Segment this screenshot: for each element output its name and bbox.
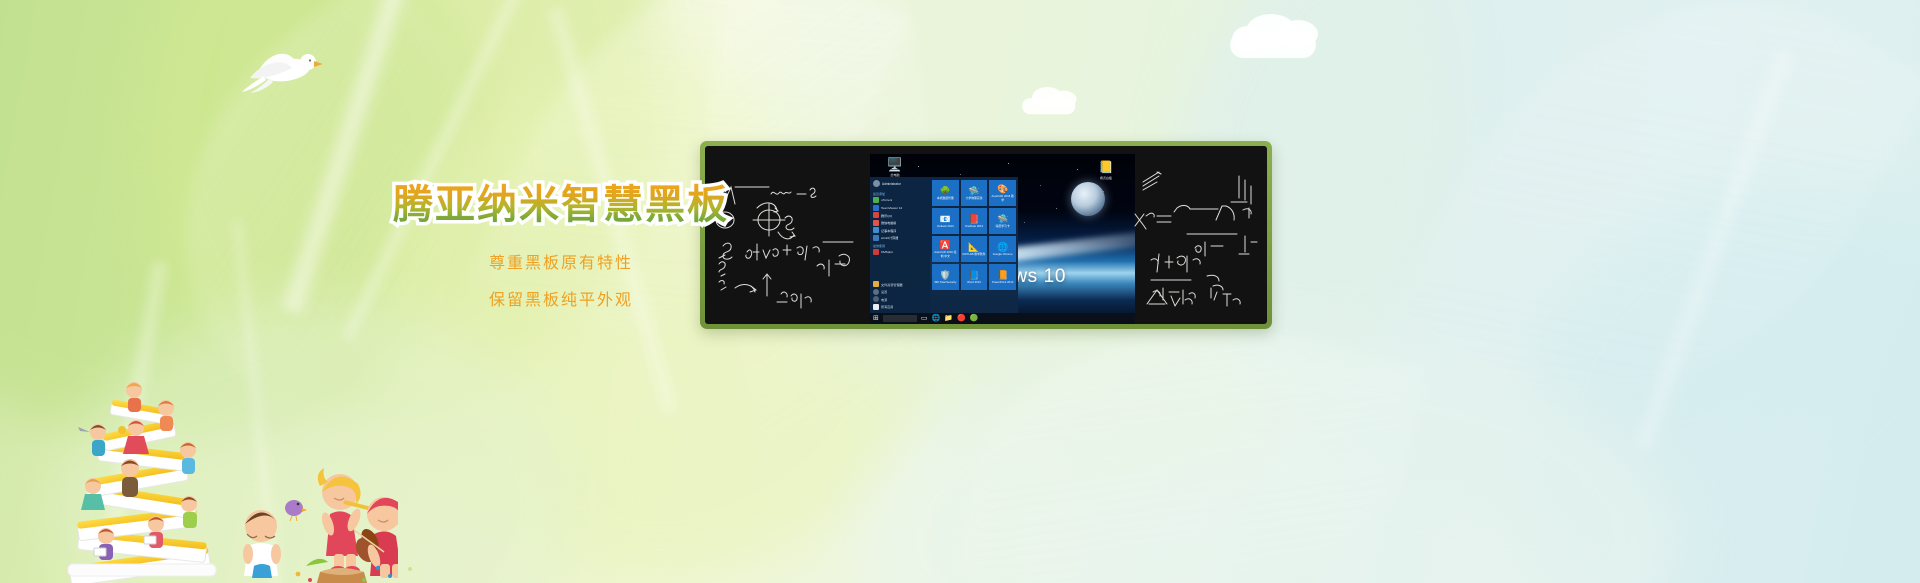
confetti-dot — [296, 572, 301, 577]
tile-label: 嗨皮学习卡 — [996, 225, 1010, 228]
teamviewer-icon — [873, 205, 879, 211]
start-menu-power[interactable]: 电源 — [873, 296, 928, 302]
security-icon: 🛡️ — [940, 270, 951, 280]
word-icon: 🛸 — [997, 214, 1008, 224]
start-tile[interactable]: 🛡️360 Total Security — [932, 264, 959, 290]
main-title-wrap: 腾亚纳米智慧黑板 腾亚纳米智慧黑板 — [336, 182, 786, 232]
tile-label: OneNote 2013 — [965, 225, 983, 228]
tile-label: AutoCAD 2018 教学 — [990, 195, 1015, 202]
tile-label: 本机数据管理 — [937, 197, 954, 200]
chalk-handwriting-left — [705, 146, 870, 324]
avatar — [873, 180, 880, 187]
windows-screen: Windows 10 🖥️ 此电脑 🗑️ 回收站 📒 希沃白板 — [870, 154, 1135, 324]
wechat-icon — [873, 220, 879, 226]
start-menu-item-label: 文件资源管理器 — [881, 282, 903, 287]
start-menu-tiles: 🌳本机数据管理 🛸大学物理实验 🎨AutoCAD 2018 教学 📧Outloo… — [930, 177, 1018, 313]
start-menu-settings[interactable]: 设置 — [873, 289, 928, 295]
start-tile[interactable]: 📕OneNote 2013 — [961, 208, 988, 234]
chalk-handwriting-right — [1127, 146, 1267, 324]
tile-label: Google Chrome — [993, 253, 1013, 256]
page-title: 腾亚纳米智慧黑板 — [336, 182, 786, 229]
umbrella-icon: 🛸 — [968, 186, 979, 196]
start-tile[interactable]: 🌐Google Chrome — [989, 236, 1016, 262]
start-tile[interactable]: 🛸大学物理实验 — [961, 180, 988, 206]
store-icon[interactable]: 🟢 — [970, 315, 979, 323]
start-tile[interactable]: 📙PowerPoint 2013 — [989, 264, 1016, 290]
word-icon: 📘 — [968, 270, 979, 280]
desktop-icon-app[interactable]: 📒 希沃白板 — [1091, 158, 1121, 181]
dove-icon — [240, 32, 330, 94]
blackboard-surface: Windows 10 🖥️ 此电脑 🗑️ 回收站 📒 希沃白板 — [705, 146, 1267, 324]
tile-label: Outlook 2013 — [937, 225, 954, 228]
utorrent-icon — [873, 197, 879, 203]
confetti-dot — [308, 578, 312, 582]
start-menu-all-apps[interactable]: 所有应用 — [873, 304, 928, 310]
start-menu-bottom: 文件资源管理器 设置 电源 — [873, 281, 928, 311]
start-tile[interactable]: 📐MATLAB 教学软件 — [961, 236, 988, 262]
tree-icon: 🌳 — [940, 186, 951, 196]
app-icon: 📒 — [1099, 160, 1114, 174]
calc-icon — [873, 235, 879, 241]
start-menu-item-label: TeamViewer 12 — [881, 206, 902, 210]
child-figure — [78, 424, 106, 456]
start-tile[interactable]: 🌳本机数据管理 — [932, 180, 959, 206]
chrome-icon[interactable]: 🔴 — [957, 315, 966, 323]
child-figure — [126, 382, 142, 412]
start-menu-item-label: uTorrent — [881, 198, 892, 202]
onenote-icon: 📕 — [968, 214, 979, 224]
confetti-dot — [376, 566, 380, 570]
outlook-icon: 📧 — [940, 214, 951, 224]
computer-icon: 🖥️ — [875, 158, 915, 172]
start-menu-item-label: 电源 — [881, 297, 887, 302]
tile-label: Word 2013 — [967, 281, 981, 284]
start-tile[interactable]: 🅰️AutoCAD 2016 绘制 中文 — [932, 236, 959, 262]
chrome-icon: 🌐 — [997, 242, 1008, 252]
start-menu-item[interactable]: 微信电脑版 — [873, 220, 928, 226]
search-input[interactable] — [883, 315, 917, 322]
start-tile[interactable]: 📘Word 2013 — [961, 264, 988, 290]
desktop-icon-computer[interactable]: 🖥️ 此电脑 — [875, 158, 915, 178]
desktop-icon-label: 希沃白板 — [1091, 176, 1121, 181]
edge-icon[interactable]: 🌐 — [932, 315, 941, 323]
tile-label: MATLAB 教学软件 — [963, 253, 986, 256]
start-menu-left-column: Administrator 最近添加 uTorrent TeamViewer 1… — [870, 177, 930, 313]
decor-dot — [408, 567, 412, 571]
settings-icon — [873, 289, 879, 295]
children-books-illustration — [48, 368, 398, 583]
adobe-icon: 🅰️ — [940, 240, 951, 250]
start-menu-group-frequent: 最常使用 — [873, 244, 928, 248]
power-icon — [873, 296, 879, 302]
smart-blackboard: Windows 10 🖥️ 此电脑 🗑️ 回收站 📒 希沃白板 — [700, 141, 1272, 329]
start-menu-item[interactable]: KMSpico — [873, 249, 928, 255]
start-menu-item[interactable]: 腾讯QQ — [873, 212, 928, 218]
tile-label: AutoCAD 2016 绘制 中文 — [933, 251, 958, 258]
matlab-icon: 📐 — [968, 242, 979, 252]
start-menu-item-label: 腾讯QQ — [881, 213, 892, 218]
explorer-icon[interactable]: 📁 — [944, 315, 953, 323]
start-tile[interactable]: 🎨AutoCAD 2018 教学 — [989, 180, 1016, 206]
start-menu-item-label: 所有应用 — [881, 304, 893, 309]
start-menu-group-recent: 最近添加 — [873, 192, 928, 196]
start-menu-item[interactable]: uTorrent — [873, 197, 928, 203]
autocad-icon: 🎨 — [997, 184, 1008, 194]
start-menu-item-label: 设置 — [881, 289, 887, 294]
apps-icon — [873, 304, 879, 310]
bird-icon — [285, 500, 307, 521]
start-menu[interactable]: Administrator 最近添加 uTorrent TeamViewer 1… — [870, 177, 1018, 313]
start-menu-item-label: 记事本程序 — [881, 228, 896, 233]
powerpoint-icon: 📙 — [997, 270, 1008, 280]
chalk-formulas-right — [1127, 146, 1267, 324]
file-explorer-icon — [873, 281, 879, 287]
confetti-dot — [388, 574, 392, 578]
start-menu-item[interactable]: 记事本程序 — [873, 227, 928, 233]
start-menu-item-label: win10计算器 — [881, 235, 898, 240]
seated-child — [243, 510, 281, 578]
user-name: Administrator — [882, 182, 901, 186]
tile-label: PowerPoint 2013 — [992, 281, 1013, 284]
promo-banner: 腾亚纳米智慧黑板 腾亚纳米智慧黑板 尊重黑板原有特性 保留黑板纯平外观 — [0, 0, 1920, 583]
windows-start-icon[interactable]: ⊞ — [873, 315, 879, 323]
chalk-formulas-left — [705, 146, 870, 324]
confetti-dot — [362, 578, 366, 582]
tile-label: 大学物理实验 — [966, 197, 983, 200]
taskbar[interactable]: ⊞ ▭ 🌐 📁 🔴 🟢 — [870, 313, 1135, 324]
notepad-icon — [873, 227, 879, 233]
start-menu-user[interactable]: Administrator — [873, 180, 928, 187]
start-menu-item[interactable]: TeamViewer 12 — [873, 205, 928, 211]
spice-icon — [873, 249, 879, 255]
start-tile[interactable]: 📧Outlook 2013 — [932, 208, 959, 234]
start-menu-file-explorer[interactable]: 文件资源管理器 — [873, 281, 928, 287]
start-menu-item-label: 微信电脑版 — [881, 220, 896, 225]
tile-label: 360 Total Security — [934, 281, 956, 284]
moon-graphic — [1071, 182, 1105, 216]
start-menu-item[interactable]: win10计算器 — [873, 235, 928, 241]
start-tile[interactable]: 🛸嗨皮学习卡 — [989, 208, 1016, 234]
task-view-icon[interactable]: ▭ — [921, 315, 928, 323]
start-menu-item-label: KMSpico — [881, 250, 893, 254]
qq-icon — [873, 212, 879, 218]
